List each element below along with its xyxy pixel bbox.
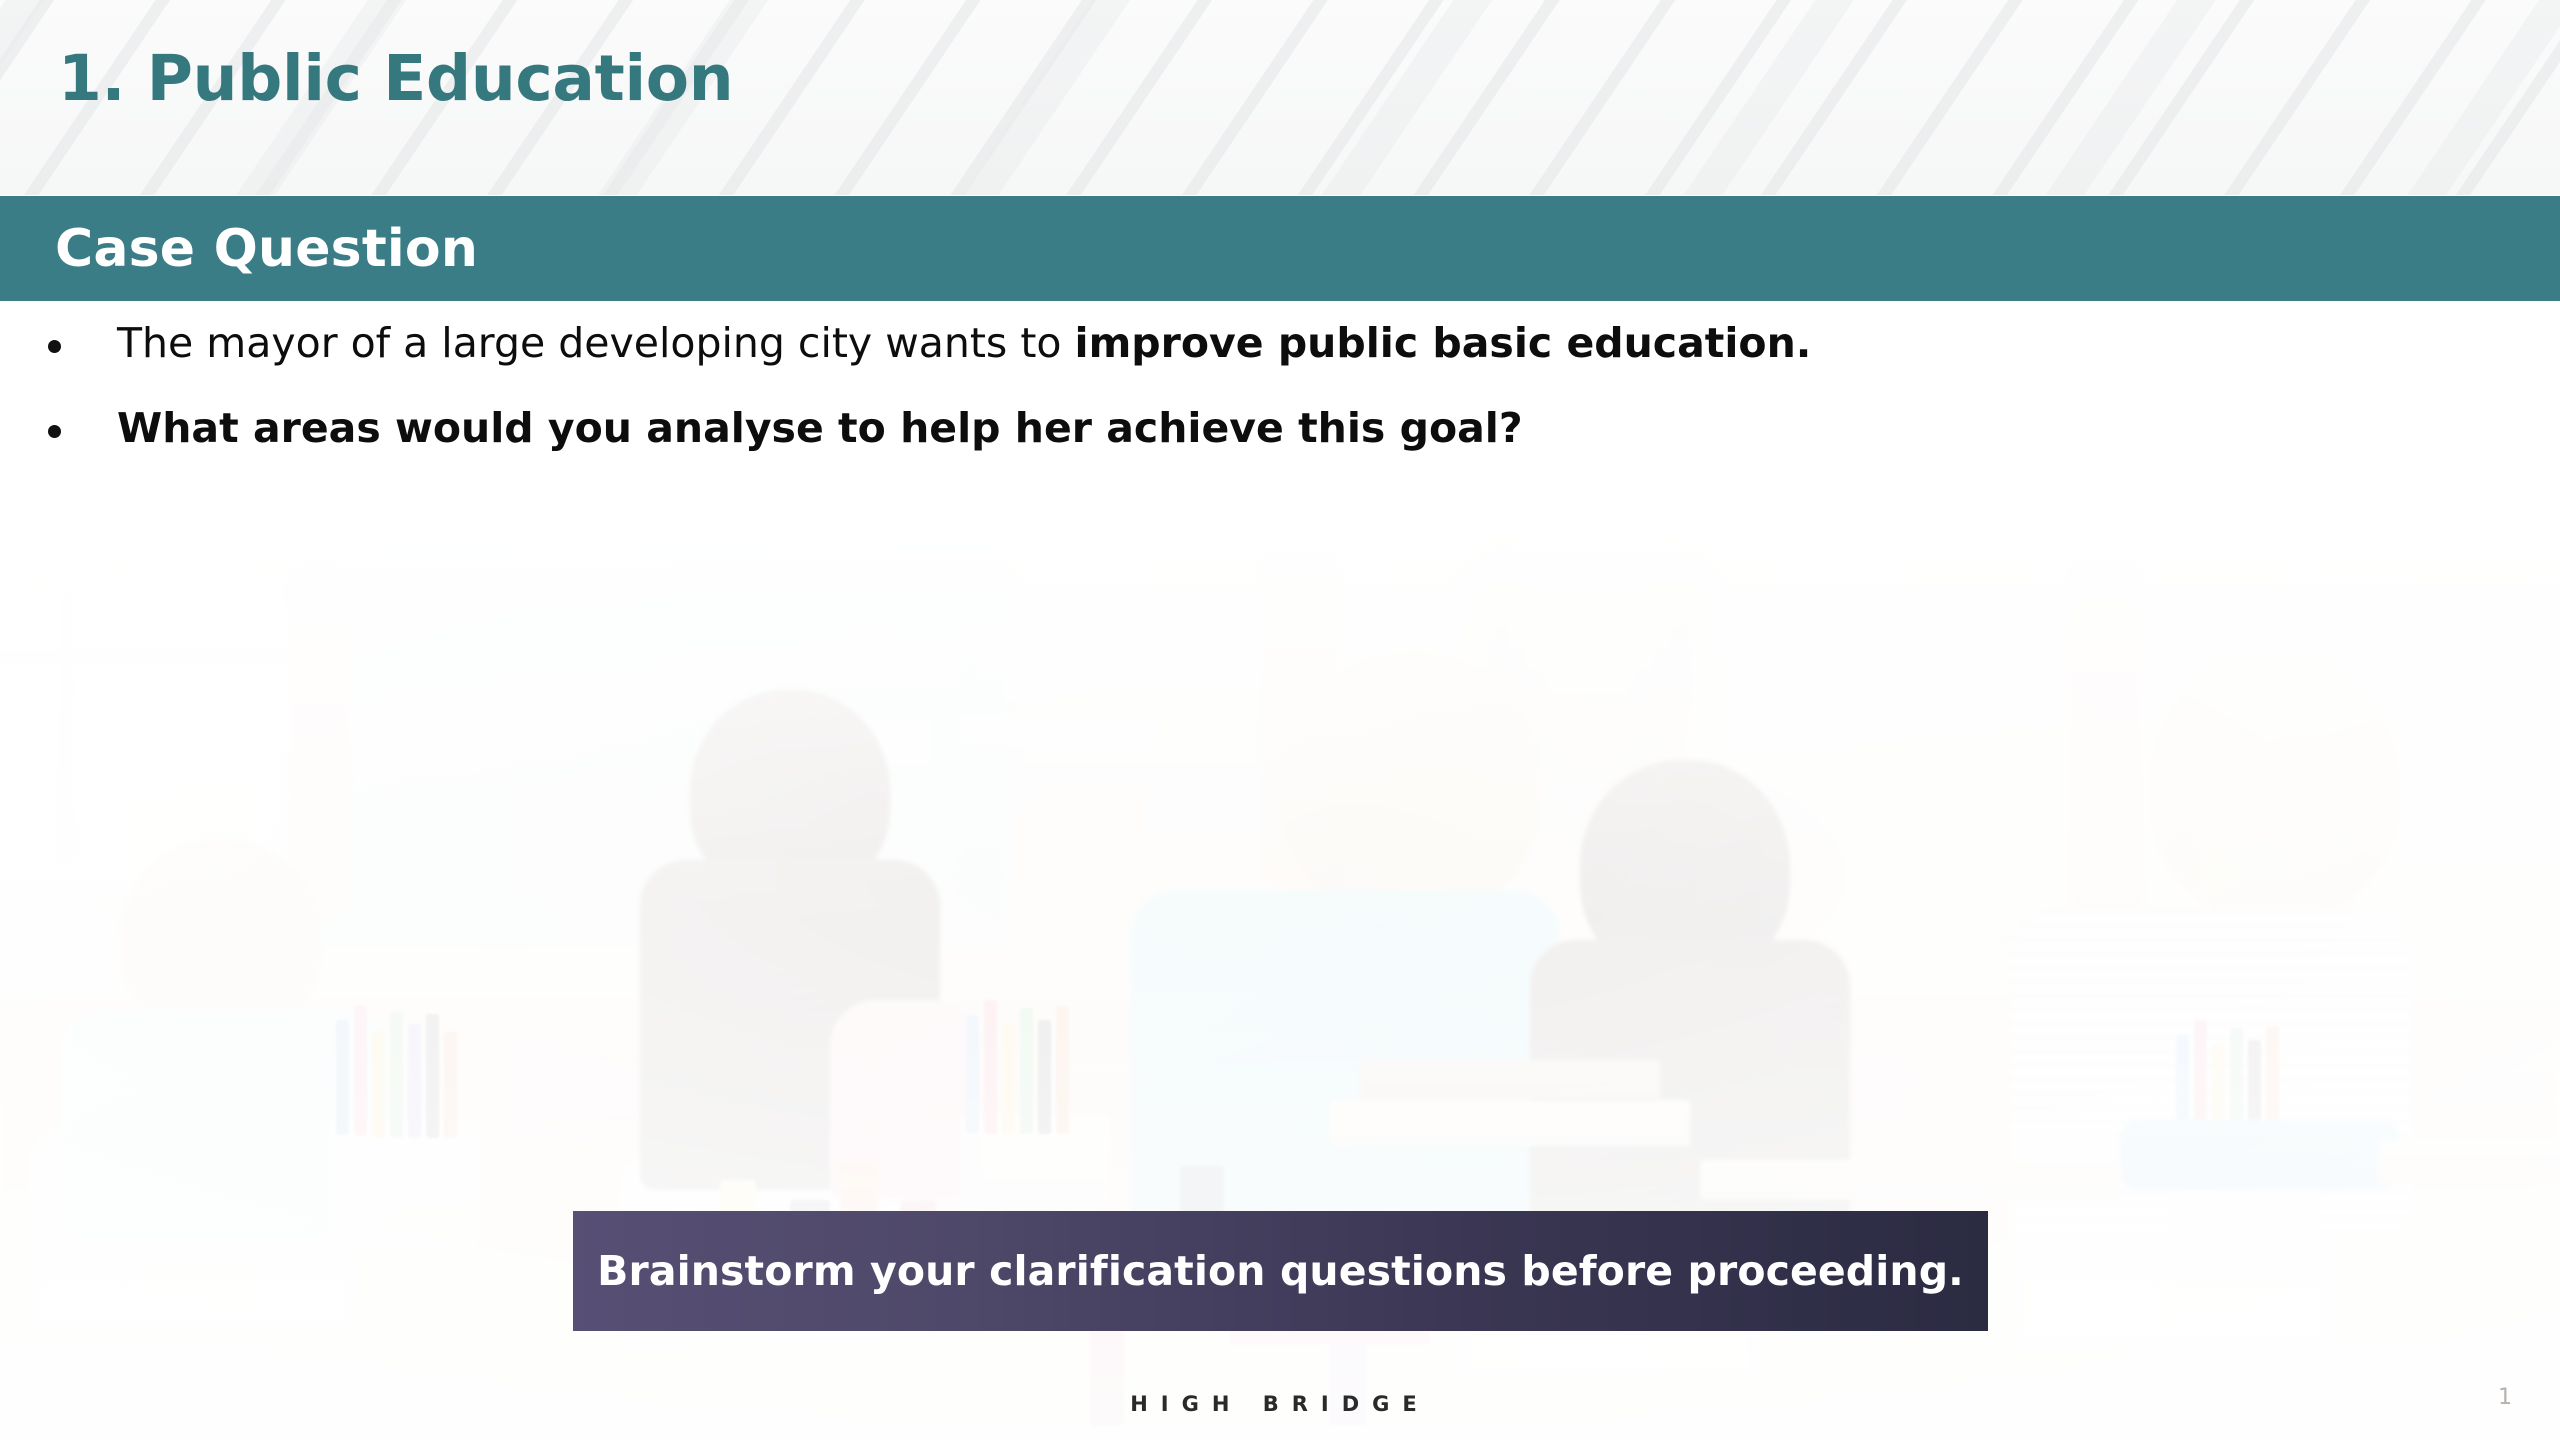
bullet-text-2: What areas would you analyse to help her… [117,403,1523,454]
bullet-list: The mayor of a large developing city wan… [0,318,2560,488]
bullet-dot-icon [48,340,61,353]
bullet-1-bold: improve public basic education. [1075,319,1812,367]
bullet-dot-icon [48,425,61,438]
section-banner: Case Question [0,196,2560,301]
footer-brand: HIGH BRIDGE [0,1392,2560,1416]
page-title: 1. Public Education [58,42,733,115]
bullet-2-bold: What areas would you analyse to help her… [117,404,1523,452]
bullet-item-2: What areas would you analyse to help her… [0,403,2560,454]
callout-text: Brainstorm your clarification questions … [597,1247,1964,1295]
section-banner-label: Case Question [55,219,478,279]
page-number: 1 [2498,1385,2512,1410]
bullet-1-lead: The mayor of a large developing city wan… [117,319,1075,367]
slide: 1. Public Education Case Question The ma… [0,0,2560,1440]
bullet-text-1: The mayor of a large developing city wan… [117,318,1811,369]
bullet-item-1: The mayor of a large developing city wan… [0,318,2560,369]
callout-box: Brainstorm your clarification questions … [573,1211,1988,1331]
